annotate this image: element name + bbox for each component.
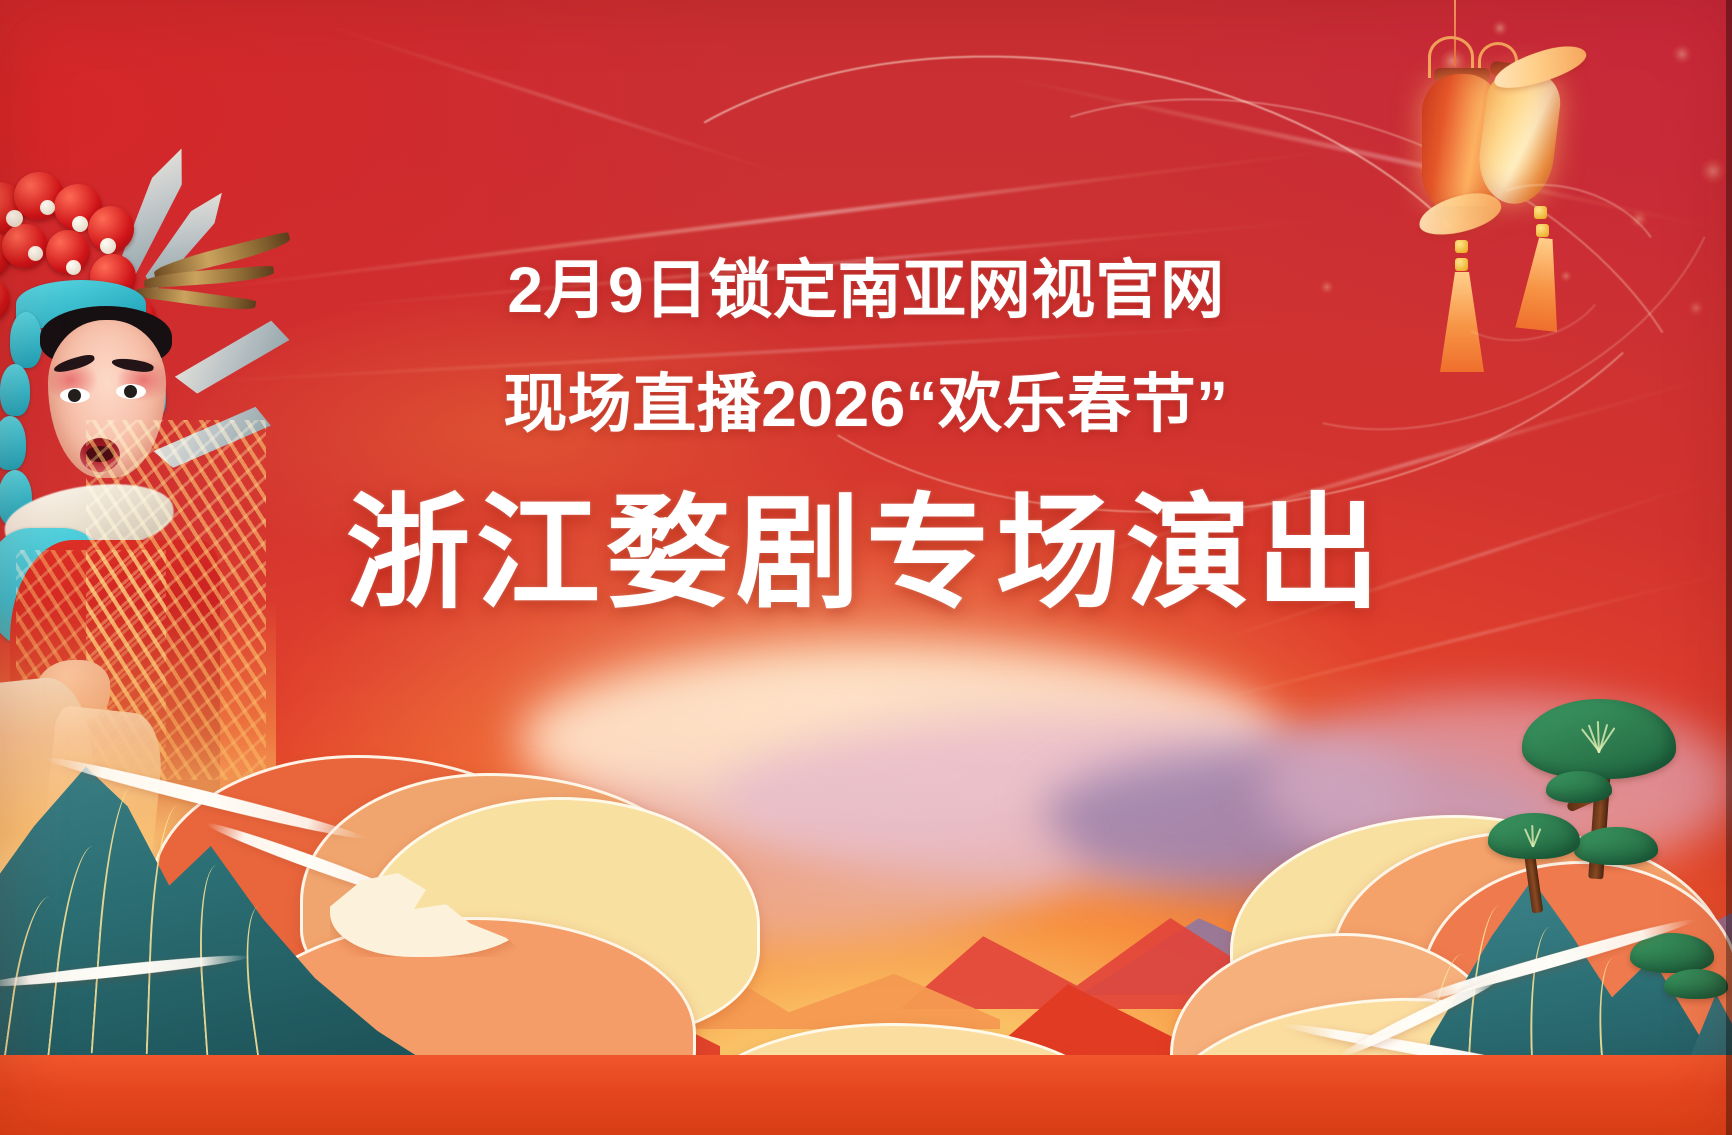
pine-crown: [1664, 969, 1728, 999]
poster-text-block: 2月9日锁定南亚网视官网 现场直播2026“欢乐春节” 浙江婺剧专场演出: [0, 0, 1732, 700]
paper-cut-landscape: [0, 665, 1732, 1135]
pine-trunk: [1524, 851, 1544, 914]
poster-subtitle-line-2: 现场直播2026“欢乐春节”: [0, 372, 1732, 436]
poster-canvas: 2月9日锁定南亚网视官网 现场直播2026“欢乐春节” 浙江婺剧专场演出: [0, 0, 1732, 1135]
poster-main-title: 浙江婺剧专场演出: [0, 492, 1732, 616]
pine-crown: [1488, 813, 1580, 859]
pine-tree: [1488, 807, 1608, 917]
right-edge-border: [1726, 0, 1732, 1135]
stage-floor: [0, 1055, 1732, 1135]
pine-crown: [1546, 771, 1612, 803]
poster-subtitle-line-1: 2月9日锁定南亚网视官网: [0, 258, 1732, 322]
